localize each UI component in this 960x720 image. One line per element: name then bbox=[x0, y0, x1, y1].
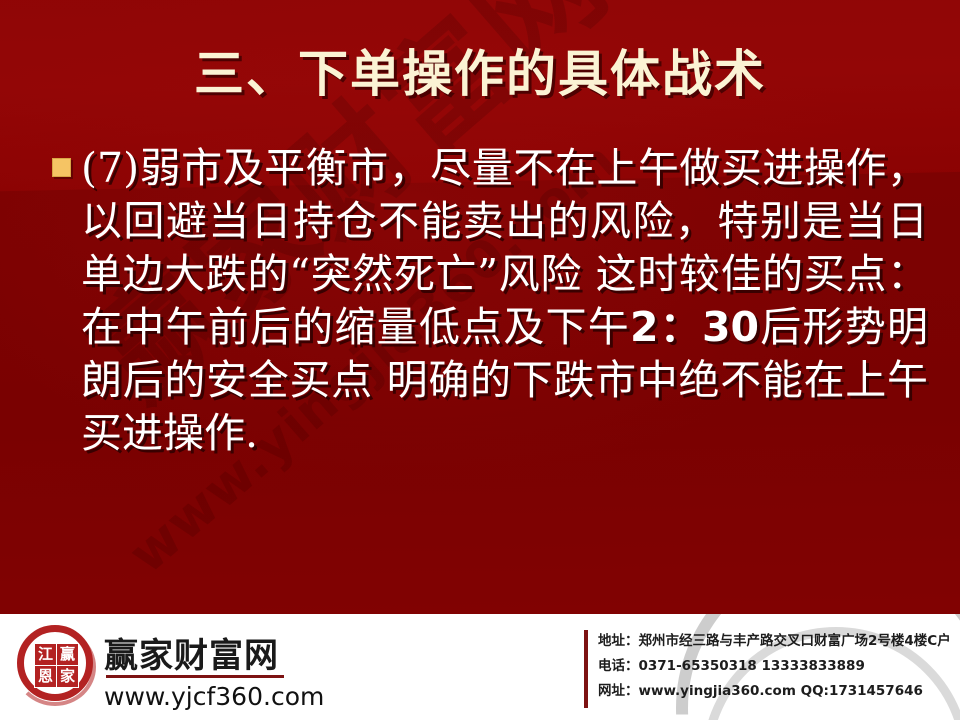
slide-canvas: 赢家财富网 www.yingjia360.com 三、下单操作的具体战术 (7)… bbox=[0, 0, 960, 720]
seal-character: 江 bbox=[35, 644, 56, 665]
body-bullet-item: (7)弱市及平衡市，尽量不在上午做买进操作，以回避当日持仓不能卖出的风险，特别是… bbox=[52, 142, 928, 460]
contact-phone: 电话：0371-65350318 13333833889 bbox=[598, 654, 958, 679]
square-bullet-icon bbox=[52, 158, 71, 177]
footer-bar: 江 赢 恩 家 赢家财富网 www.yjcf360.com 地址：郑州市经三路与… bbox=[0, 614, 960, 720]
contact-divider bbox=[584, 630, 588, 708]
seal-character: 家 bbox=[57, 666, 78, 687]
contact-block: 地址：郑州市经三路与丰产路交叉口财富广场2号楼4楼C户 电话：0371-6535… bbox=[598, 629, 958, 704]
brand-website[interactable]: www.yjcf360.com bbox=[104, 682, 324, 711]
body-paragraph: (7)弱市及平衡市，尽量不在上午做买进操作，以回避当日持仓不能卖出的风险，特别是… bbox=[81, 142, 928, 460]
seal-character: 赢 bbox=[57, 644, 78, 665]
contact-address: 地址：郑州市经三路与丰产路交叉口财富广场2号楼4楼C户 bbox=[598, 629, 958, 654]
seal-character-grid: 江 赢 恩 家 bbox=[34, 643, 79, 688]
slide-background: 赢家财富网 www.yingjia360.com 三、下单操作的具体战术 (7)… bbox=[0, 0, 960, 614]
seal-character: 恩 bbox=[35, 666, 56, 687]
brand-divider bbox=[106, 675, 284, 678]
brand-name: 赢家财富网 bbox=[104, 628, 279, 677]
body-text-highlight: 2：30 bbox=[630, 303, 759, 351]
contact-website: 网址：www.yingjia360.com QQ:1731457646 bbox=[598, 679, 958, 704]
company-seal-logo: 江 赢 恩 家 bbox=[14, 622, 100, 710]
slide-title: 三、下单操作的具体战术 bbox=[0, 34, 960, 106]
